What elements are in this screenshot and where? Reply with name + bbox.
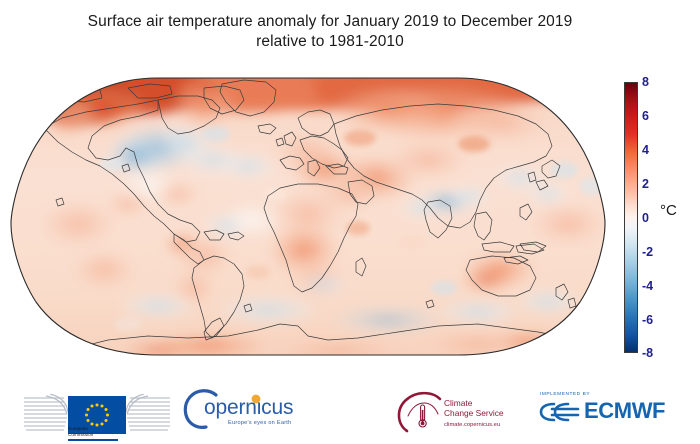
colorbar-tick-4: 4 [642,144,649,156]
colorbar-gradient [624,82,638,353]
logo-strip: European Commission opernicus Europe's e… [0,382,700,444]
copernicus-tagline: Europe's eyes on Earth [228,420,291,426]
copernicus-wordmark: opernicus [204,396,293,420]
eu-fan-left-icon [24,394,68,434]
eu-underline [68,439,118,441]
colorbar-tick-minus-4: -4 [642,280,653,292]
c3s-url: climate.copernicus.eu [444,422,500,428]
colorbar-tick-0: 0 [642,212,649,224]
copernicus-logo: opernicus Europe's eyes on Earth [182,382,302,444]
title-line-1: Surface air temperature anomaly for Janu… [0,12,660,32]
colorbar-tick-8: 8 [642,76,649,88]
c3s-name-line-1: Climate [444,398,504,408]
ecmwf-implemented-by-label: IMPLEMENTED BY [540,392,590,397]
eu-caption: European Commission [68,426,168,437]
eu-caption-line-2: Commission [68,432,168,438]
ecmwf-wordmark: ECMWF [584,398,665,424]
anomaly-field [8,74,608,359]
colorbar-unit-label: °C [660,202,677,219]
copernicus-dot-icon [250,393,262,405]
ecmwf-swirl-icon [538,400,580,424]
c3s-thermometer-icon [394,390,446,436]
title-line-2: relative to 1981-2010 [0,32,660,52]
colorbar: 8 6 4 2 0 -2 -4 -6 -8 °C [624,82,700,356]
temperature-anomaly-map [8,74,608,359]
map-svg [8,74,608,359]
colorbar-tick-minus-8: -8 [642,347,653,359]
colorbar-tick-2: 2 [642,178,649,190]
ecmwf-logo: IMPLEMENTED BY ECMWF [534,382,684,444]
colorbar-tick-minus-6: -6 [642,314,653,326]
c3s-name-line-2: Change Service [444,408,504,418]
c3s-name: Climate Change Service [444,398,504,418]
page-title: Surface air temperature anomaly for Janu… [0,12,660,52]
european-commission-logo: European Commission [22,382,172,444]
colorbar-tick-minus-2: -2 [642,246,653,258]
colorbar-tick-6: 6 [642,110,649,122]
